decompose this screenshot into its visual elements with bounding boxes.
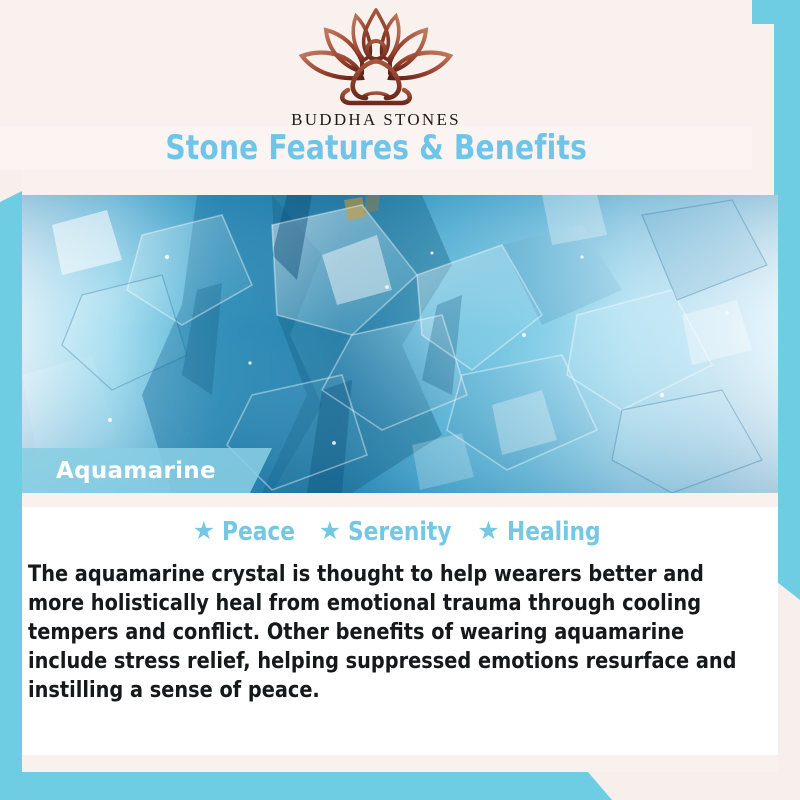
poster-header: BUDDHA STONES Stone Features & Benefits bbox=[0, 0, 752, 170]
description-paragraph: The aquamarine crystal is thought to hel… bbox=[28, 560, 739, 705]
frame-accent-bottom bbox=[0, 772, 800, 800]
title-band: Stone Features & Benefits bbox=[0, 126, 752, 170]
keyword-label: Peace bbox=[222, 517, 295, 547]
photo-content-separator bbox=[22, 493, 778, 507]
keyword-peace: ★ Peace bbox=[193, 517, 301, 547]
keyword-label: Serenity bbox=[348, 517, 451, 547]
page-title: Stone Features & Benefits bbox=[165, 128, 587, 168]
frame-accent-left bbox=[0, 190, 24, 800]
footer-strip bbox=[22, 755, 778, 772]
keyword-label: Healing bbox=[507, 517, 601, 547]
keyword-serenity: ★ Serenity bbox=[319, 517, 460, 547]
brand-logo: BUDDHA STONES bbox=[0, 4, 752, 130]
star-icon: ★ bbox=[193, 519, 215, 544]
star-icon: ★ bbox=[319, 519, 341, 544]
content-panel: ★ Peace ★ Serenity ★ Healing The aquamar… bbox=[22, 507, 778, 755]
stone-name-label: Aquamarine bbox=[56, 458, 216, 484]
stone-name-ribbon: Aquamarine bbox=[22, 448, 272, 493]
star-icon: ★ bbox=[477, 519, 499, 544]
poster-root: BUDDHA STONES Stone Features & Benefits bbox=[0, 0, 800, 800]
keyword-row: ★ Peace ★ Serenity ★ Healing bbox=[22, 517, 778, 547]
keyword-healing: ★ Healing bbox=[477, 517, 607, 547]
lotus-meditation-icon bbox=[278, 4, 474, 108]
